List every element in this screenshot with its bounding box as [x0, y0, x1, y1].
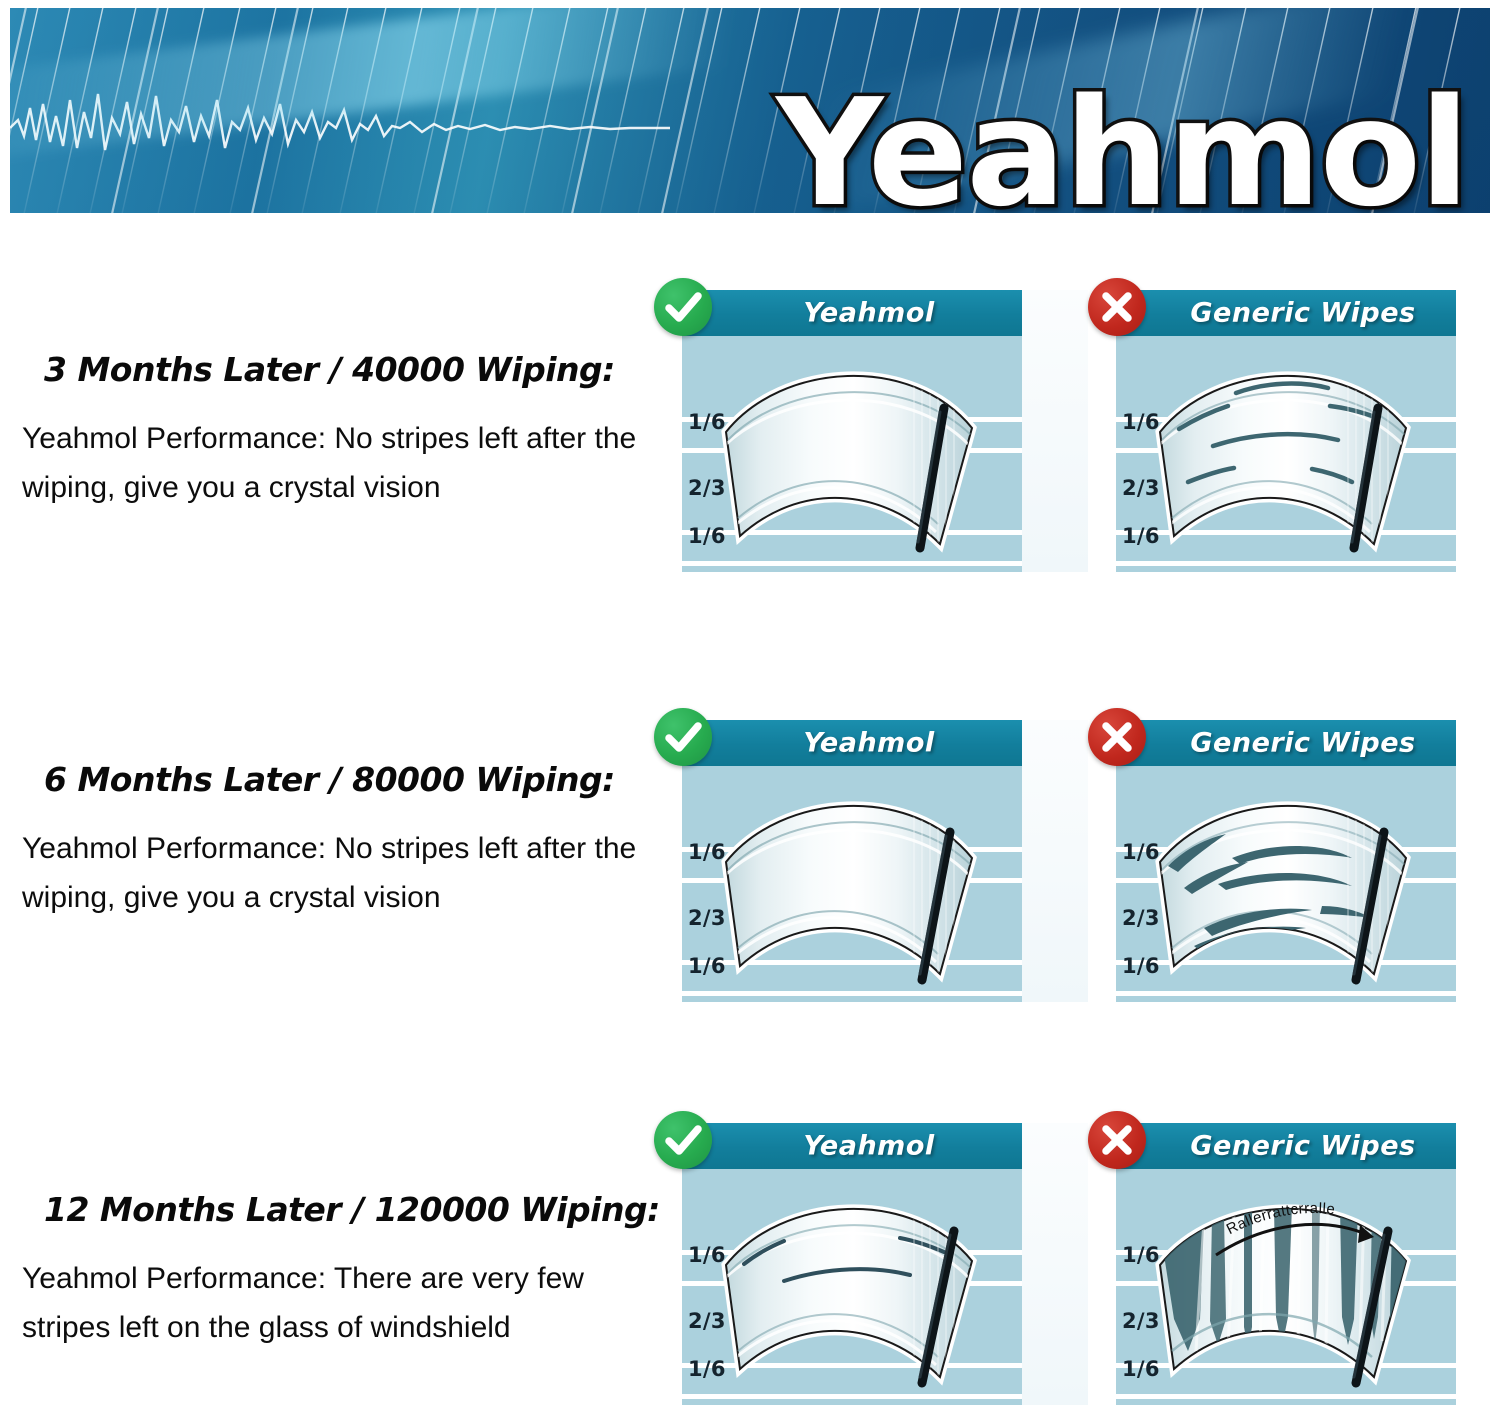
panel-header: Yeahmol: [682, 290, 1022, 336]
panel-title: Yeahmol: [682, 1131, 1022, 1162]
cross-icon: [1088, 1111, 1146, 1169]
wiper-sweep-illustration: [682, 766, 1022, 1002]
brand-banner: Yeahmol: [10, 8, 1490, 213]
panel-gap: [1022, 290, 1088, 572]
yeahmol-panel: Yeahmol 1/6 2/3 1/6: [654, 290, 1022, 572]
wiper-sweep-illustration: [1116, 766, 1456, 1002]
panel-body: 1/6 2/3 1/6: [682, 1169, 1022, 1405]
panel-title: Generic Wipes: [1116, 728, 1456, 759]
panel-title: Yeahmol: [682, 298, 1022, 329]
check-icon: [654, 708, 712, 766]
check-icon: [654, 1111, 712, 1169]
panel-header: Yeahmol: [682, 720, 1022, 766]
panel-body: 1/6 2/3 1/6: [682, 336, 1022, 572]
panel-title: Generic Wipes: [1116, 1131, 1456, 1162]
comparison-row-3-months: 3 Months Later / 40000 Wiping: Yeahmol P…: [0, 250, 1500, 660]
panel-header: Generic Wipes: [1116, 290, 1456, 336]
panel-header: Yeahmol: [682, 1123, 1022, 1169]
panel-pair: Yeahmol 1/6 2/3 1/6: [0, 680, 1500, 1090]
panel-header: Generic Wipes: [1116, 1123, 1456, 1169]
generic-wipes-panel: Generic Wipes 1/6 2/3 1/6: [1088, 720, 1456, 1002]
panel-pair: Yeahmol 1/6 2/3 1/6: [0, 250, 1500, 660]
panel-gap: [1022, 720, 1088, 1002]
panel-gap: [1022, 1123, 1088, 1405]
panel-header: Generic Wipes: [1116, 720, 1456, 766]
panel-body: 1/6 2/3 1/6: [1116, 766, 1456, 1002]
cross-icon: [1088, 708, 1146, 766]
wiper-sweep-illustration: [682, 336, 1022, 572]
panel-title: Generic Wipes: [1116, 298, 1456, 329]
wiper-sweep-illustration: [682, 1169, 1022, 1405]
check-icon: [654, 278, 712, 336]
brand-logo: Yeahmol: [776, 79, 1468, 213]
wiper-sweep-illustration: Rallerrattcrralle: [1116, 1169, 1456, 1405]
brand-logo-text: Yeahmol: [776, 67, 1468, 213]
panel-body: 1/6 2/3 1/6: [1116, 336, 1456, 572]
panel-title: Yeahmol: [682, 728, 1022, 759]
generic-wipes-panel: Generic Wipes 1/6 2/3 1/6: [1088, 1123, 1456, 1405]
wiper-sweep-illustration: [1116, 336, 1456, 572]
yeahmol-panel: Yeahmol 1/6 2/3 1/6: [654, 1123, 1022, 1405]
panel-body: 1/6 2/3 1/6: [1116, 1169, 1456, 1405]
cross-icon: [1088, 278, 1146, 336]
yeahmol-panel: Yeahmol 1/6 2/3 1/6: [654, 720, 1022, 1002]
comparison-row-6-months: 6 Months Later / 80000 Wiping: Yeahmol P…: [0, 680, 1500, 1090]
panel-body: 1/6 2/3 1/6: [682, 766, 1022, 1002]
generic-wipes-panel: Generic Wipes 1/6 2/3 1/6: [1088, 290, 1456, 572]
panel-pair: Yeahmol 1/6 2/3 1/6: [0, 1105, 1500, 1412]
comparison-row-12-months: 12 Months Later / 120000 Wiping: Yeahmol…: [0, 1105, 1500, 1412]
